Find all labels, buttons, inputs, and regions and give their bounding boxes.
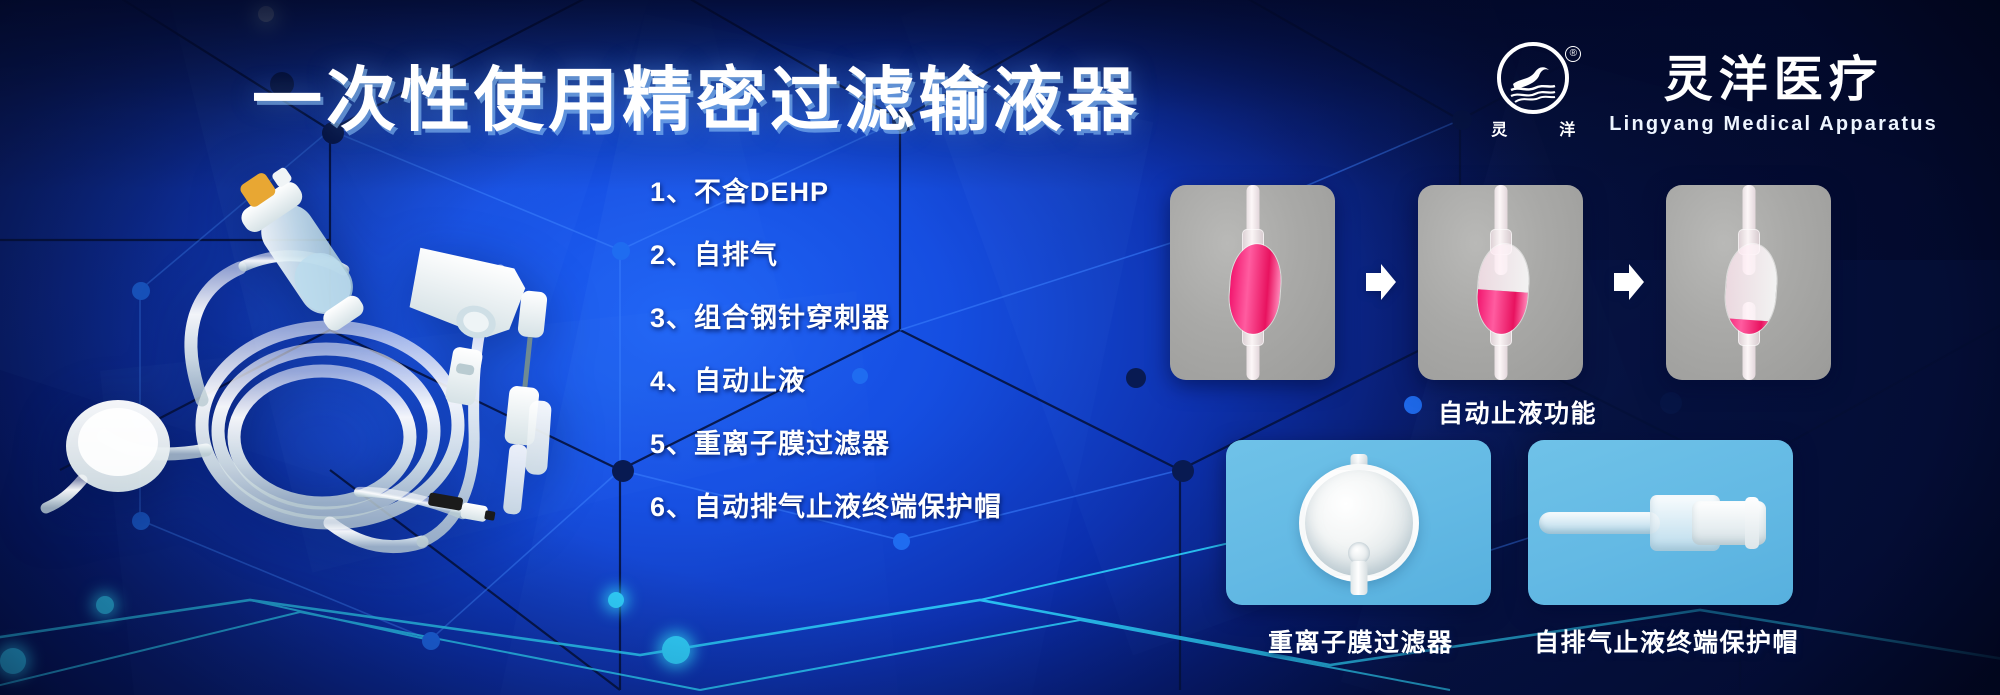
network-node <box>662 636 690 664</box>
filter-photo-panel <box>1226 440 1491 605</box>
feature-item: 5、重离子膜过滤器 <box>650 422 1002 461</box>
auto-stop-valve <box>1225 241 1283 336</box>
brand-logo: ® 灵 洋 灵洋医疗 Lingyang Medical Apparatus <box>1491 40 1938 136</box>
cap-end-ring <box>1745 497 1759 549</box>
cap-panel-caption: 自排气止液终端保护帽 <box>1534 623 1799 659</box>
logo-wave-bird-icon <box>1505 50 1561 106</box>
sequence-arrow-2-icon <box>1612 262 1646 302</box>
logo-sub-right: 洋 <box>1559 116 1575 140</box>
connector-tubing <box>1539 512 1661 534</box>
network-node <box>1126 368 1146 388</box>
feature-item: 3、组合钢针穿刺器 <box>650 296 1002 335</box>
valve-photo-frame-1 <box>1170 185 1335 380</box>
network-node <box>1452 110 1472 130</box>
logo-emblem-icon: ® 灵 洋 <box>1491 40 1583 136</box>
sequence-arrow-1-icon <box>1364 262 1398 302</box>
filter-port-bottom <box>1350 561 1367 595</box>
logo-sub-characters: 灵 洋 <box>1491 116 1575 140</box>
feature-item: 1、不含DEHP <box>650 170 1002 209</box>
feature-item: 6、自动排气止液终端保护帽 <box>650 485 1002 524</box>
product-banner: 一次性使用精密过滤输液器 ® 灵 洋 灵洋医疗 Lingyang Medical… <box>0 0 2000 695</box>
page-title: 一次性使用精密过滤输液器 <box>252 44 1140 145</box>
main-product-image <box>30 150 710 570</box>
network-node <box>1404 396 1422 414</box>
sequence-caption: 自动止液功能 <box>1438 394 1597 430</box>
feature-item: 2、自排气 <box>650 233 1002 272</box>
network-node <box>1172 460 1194 482</box>
auto-stop-valve <box>1721 241 1779 336</box>
logo-sub-left: 灵 <box>1491 116 1507 140</box>
logo-wordmark: 灵洋医疗 Lingyang Medical Apparatus <box>1609 40 1938 136</box>
filter-panel-caption: 重离子膜过滤器 <box>1268 623 1454 659</box>
network-node <box>422 632 440 650</box>
network-node <box>96 596 114 614</box>
cap-photo-panel <box>1528 440 1793 605</box>
auto-stop-valve <box>1473 241 1531 336</box>
inline-filter-icon <box>46 400 170 508</box>
network-node <box>258 6 274 22</box>
feature-list: 1、不含DEHP 2、自排气 3、组合钢针穿刺器 4、自动止液 5、重离子膜过滤… <box>650 170 1002 524</box>
valve-photo-frame-2 <box>1418 185 1583 380</box>
valve-photo-frame-3 <box>1666 185 1831 380</box>
brand-name-cn: 灵洋医疗 <box>1664 40 1884 111</box>
feature-item: 4、自动止液 <box>650 359 1002 398</box>
network-node <box>893 533 910 550</box>
network-node <box>608 592 624 608</box>
registered-trademark-icon: ® <box>1565 46 1581 62</box>
network-node <box>0 648 26 674</box>
network-node <box>1660 392 1682 414</box>
brand-name-en: Lingyang Medical Apparatus <box>1609 113 1938 136</box>
